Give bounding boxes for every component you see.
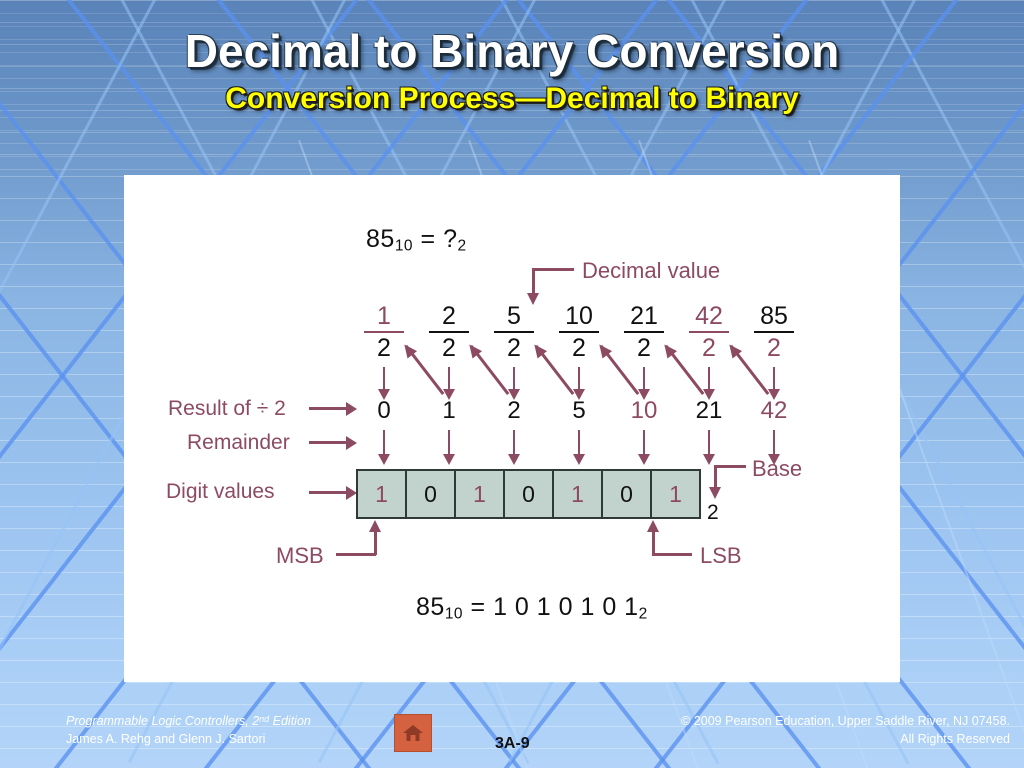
division-numerator: 21 — [616, 303, 672, 330]
bottom-eq-result-base: 2 — [639, 605, 648, 622]
msb-callout-hline — [336, 553, 376, 556]
arrow-stem — [383, 367, 386, 389]
base-subscript: 2 — [707, 501, 719, 525]
top-eq-equals: = — [421, 225, 436, 253]
division-numerator: 1 — [356, 303, 412, 330]
bottom-eq-result: 1 0 1 0 1 0 1 — [493, 593, 639, 621]
arrow-stem — [578, 430, 581, 454]
bottom-eq-equals: = — [471, 593, 486, 621]
arrow-stem — [448, 430, 451, 454]
digit-value-cell: 1 — [554, 471, 603, 517]
arrow-head — [703, 454, 715, 465]
division-numerator: 10 — [551, 303, 607, 330]
digit-value-cell: 0 — [603, 471, 652, 517]
top-eq-result-base: 2 — [457, 237, 466, 254]
result-value: 10 — [616, 397, 672, 425]
arrow-stem — [513, 367, 516, 389]
arrow-stem — [708, 430, 711, 454]
division-fraction-bar — [754, 331, 794, 333]
division-numerator: 2 — [421, 303, 477, 330]
division-numerator: 42 — [681, 303, 737, 330]
division-fraction-bar — [429, 331, 469, 333]
decimal-value-callout-arrowhead — [527, 293, 539, 305]
digit-value-cell: 0 — [505, 471, 554, 517]
arrow-stem — [448, 367, 451, 389]
result-value: 2 — [486, 397, 542, 425]
digit-values-boxes: 1010101 — [356, 469, 701, 519]
decimal-value-callout-hline — [532, 268, 574, 271]
digit-values-row-label: Digit values — [166, 480, 275, 504]
digit-value-cell: 1 — [358, 471, 407, 517]
decimal-value-callout-vline — [532, 268, 535, 294]
division-numerator: 5 — [486, 303, 542, 330]
digit-value-cell: 1 — [652, 471, 699, 517]
lsb-callout-hline — [652, 553, 692, 556]
result-row-arrow — [309, 407, 347, 410]
arrow-head — [508, 454, 520, 465]
remainder-row-arrow — [309, 441, 347, 444]
arrow-head — [378, 454, 390, 465]
division-fraction-bar — [364, 331, 404, 333]
msb-callout-vline — [374, 531, 377, 555]
division-denominator: 2 — [746, 335, 802, 361]
division-fraction-bar — [624, 331, 664, 333]
digit-values-row-arrow — [309, 491, 347, 494]
footer-copyright-line1: © 2009 Pearson Education, Upper Saddle R… — [681, 712, 1010, 730]
footer-copyright: © 2009 Pearson Education, Upper Saddle R… — [681, 712, 1010, 748]
arrow-stem — [773, 430, 776, 454]
figure-panel: 8510 = ?2 122252102212422852 Decimal val… — [124, 175, 900, 682]
footer-book-title-text: Programmable Logic Controllers, 2 — [66, 714, 259, 728]
base-callout-hline — [714, 465, 746, 468]
home-button[interactable] — [394, 714, 432, 752]
arrow-head — [573, 454, 585, 465]
division-fraction-bar — [494, 331, 534, 333]
arrow-head — [638, 454, 650, 465]
bottom-equation: 8510 = 1 0 1 0 1 0 12 — [416, 593, 648, 623]
result-row-label: Result of ÷ 2 — [168, 397, 286, 421]
division-fraction-bar — [559, 331, 599, 333]
top-eq-result: ? — [443, 225, 457, 253]
division-numerator: 85 — [746, 303, 802, 330]
footer-book-info: Programmable Logic Controllers, 2nd Edit… — [66, 712, 311, 748]
msb-label: MSB — [276, 543, 324, 569]
top-equation: 8510 = ?2 — [366, 225, 467, 255]
arrow-head — [443, 454, 455, 465]
arrow-stem — [513, 430, 516, 454]
lsb-callout-vline — [652, 531, 655, 555]
home-icon — [402, 723, 424, 743]
base-callout-vline — [714, 465, 717, 489]
lsb-label: LSB — [700, 543, 742, 569]
digit-value-cell: 1 — [456, 471, 505, 517]
bottom-eq-value: 85 — [416, 593, 445, 621]
page-title: Decimal to Binary Conversion — [0, 28, 1024, 74]
top-eq-value: 85 — [366, 225, 395, 253]
top-eq-base: 10 — [395, 237, 413, 254]
lsb-callout-arrowhead — [647, 520, 659, 532]
bottom-eq-base: 10 — [445, 605, 463, 622]
footer-book-title-tail: Edition — [269, 714, 311, 728]
remainder-row-label: Remainder — [187, 431, 290, 455]
result-value: 1 — [421, 397, 477, 425]
result-value: 21 — [681, 397, 737, 425]
division-fraction-bar — [689, 331, 729, 333]
footer-book-title-sup: nd — [259, 714, 269, 724]
result-value: 42 — [746, 397, 802, 425]
footer-copyright-line2: All Rights Reserved — [681, 730, 1010, 748]
footer-book-title: Programmable Logic Controllers, 2nd Edit… — [66, 712, 311, 730]
decimal-to-binary-figure: 8510 = ?2 122252102212422852 Decimal val… — [124, 175, 900, 682]
arrow-stem — [708, 367, 711, 389]
decimal-value-label: Decimal value — [582, 258, 720, 284]
base-callout-arrowhead — [709, 487, 721, 499]
arrow-stem — [383, 430, 386, 454]
result-value: 0 — [356, 397, 412, 425]
msb-callout-arrowhead — [369, 520, 381, 532]
page-subtitle: Conversion Process—Decimal to Binary — [0, 84, 1024, 114]
title-block: Decimal to Binary Conversion Conversion … — [0, 28, 1024, 114]
division-fraction: 852 — [746, 303, 802, 362]
arrow-stem — [643, 367, 646, 389]
result-value: 5 — [551, 397, 607, 425]
base-label: Base — [752, 456, 802, 482]
slide-number: 3A-9 — [495, 735, 530, 753]
arrow-stem — [578, 367, 581, 389]
digit-value-cell: 0 — [407, 471, 456, 517]
arrow-stem — [643, 430, 646, 454]
arrow-stem — [773, 367, 776, 389]
footer-authors: James A. Rehg and Glenn J. Sartori — [66, 730, 311, 748]
